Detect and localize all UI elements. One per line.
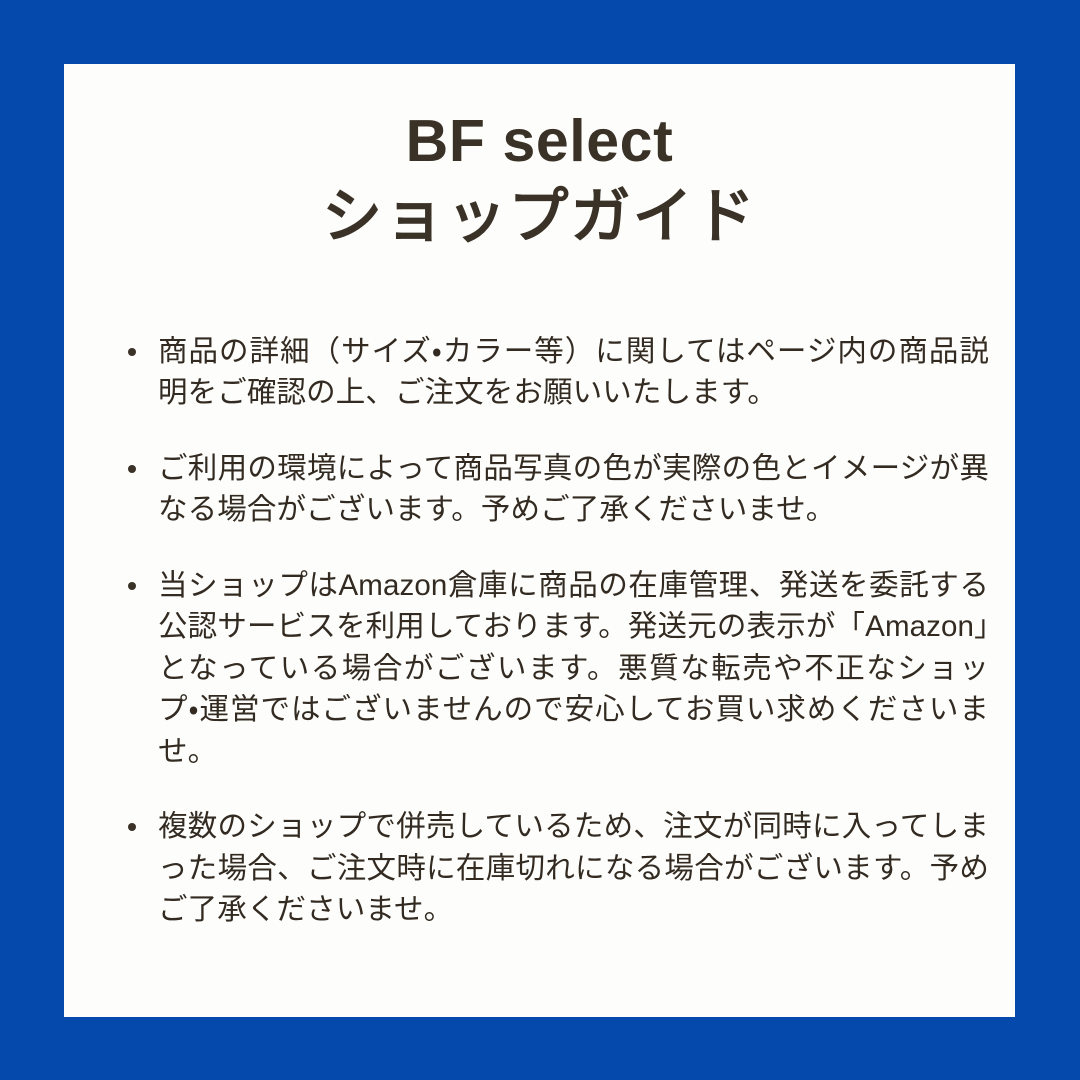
list-item-text: 商品の詳細（サイズ・カラー等）に関してはページ内の商品説明をご確認の上、ご注文を… <box>158 331 989 414</box>
page-title-line-subtitle: ショップガイド <box>64 174 1015 253</box>
shop-guide-note-list: 商品の詳細（サイズ・カラー等）に関してはページ内の商品説明をご確認の上、ご注文を… <box>64 331 1015 931</box>
list-item: 当ショップはAmazon倉庫に商品の在庫管理、発送を委託する公認サービスを利用し… <box>126 565 989 773</box>
list-item-text: ご利用の環境によって商品写真の色が実際の色とイメージが異なる場合がございます。予… <box>158 448 989 531</box>
list-item-text: 当ショップはAmazon倉庫に商品の在庫管理、発送を委託する公認サービスを利用し… <box>158 565 989 773</box>
shop-guide-card: BF select ショップガイド 商品の詳細（サイズ・カラー等）に関してはペー… <box>64 64 1015 1017</box>
list-item: ご利用の環境によって商品写真の色が実際の色とイメージが異なる場合がございます。予… <box>126 448 989 531</box>
blue-frame: BF select ショップガイド 商品の詳細（サイズ・カラー等）に関してはペー… <box>0 0 1080 1080</box>
bullet-dot-icon <box>128 582 136 590</box>
bullet-dot-icon <box>128 465 136 473</box>
list-item-text: 複数のショップで併売しているため、注文が同時に入ってしまった場合、ご注文時に在庫… <box>158 806 989 931</box>
list-item: 複数のショップで併売しているため、注文が同時に入ってしまった場合、ご注文時に在庫… <box>126 806 989 931</box>
list-item: 商品の詳細（サイズ・カラー等）に関してはページ内の商品説明をご確認の上、ご注文を… <box>126 331 989 414</box>
page-title-line-brand: BF select <box>64 108 1015 174</box>
bullet-dot-icon <box>128 823 136 831</box>
page-title: BF select ショップガイド <box>64 64 1015 253</box>
bullet-dot-icon <box>128 348 136 356</box>
